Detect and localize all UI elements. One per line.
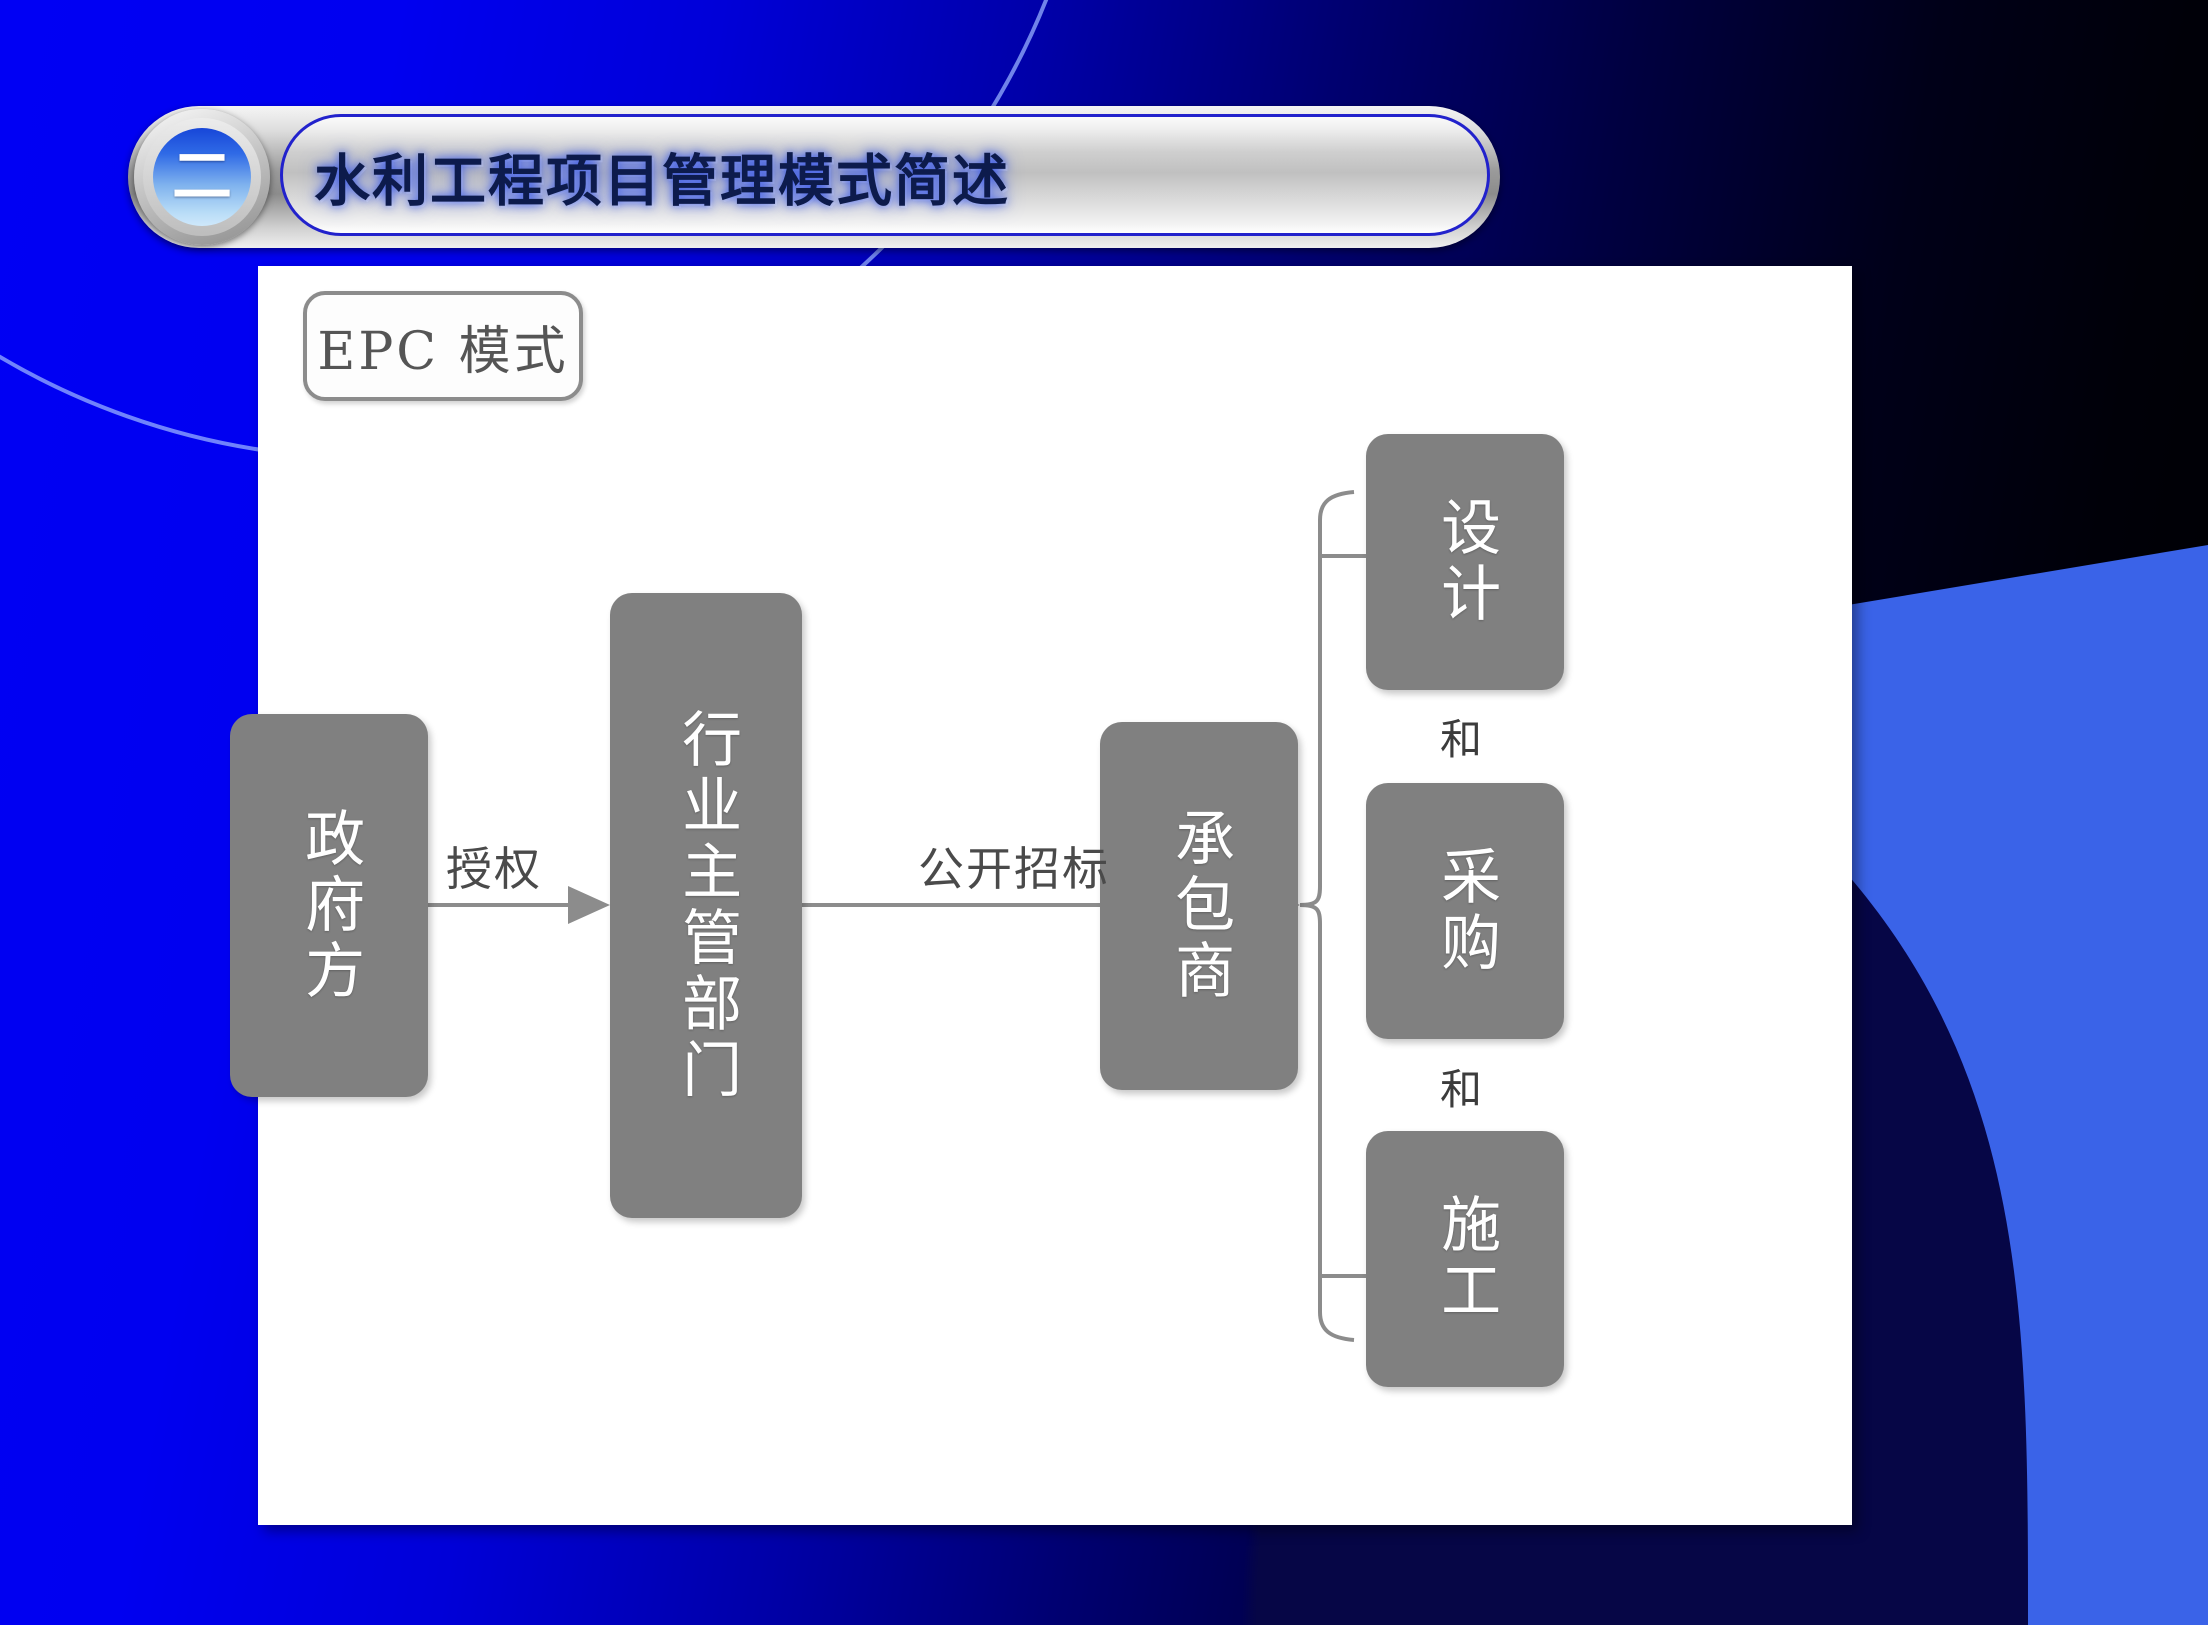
node-authority: 行业主管部门 bbox=[610, 593, 802, 1218]
node-government-label: 政府方 bbox=[292, 807, 365, 1005]
conjunction-procurement-construction: 和 bbox=[1440, 1056, 1482, 1117]
node-design: 设计 bbox=[1366, 434, 1564, 690]
content-panel: EPC 模式 政府方 行业主管部门 承包商 设计 采购 施工 授权 bbox=[258, 266, 1852, 1525]
section-number-badge: 二 bbox=[134, 109, 270, 245]
conjunction-design-procurement: 和 bbox=[1440, 706, 1482, 767]
node-procurement-label: 采购 bbox=[1428, 845, 1501, 977]
edge-label-authorization-text: 授权 bbox=[446, 842, 542, 896]
badge-number-glyph: 二 bbox=[172, 147, 232, 207]
page-title: 水利工程项目管理模式简述 bbox=[314, 137, 1010, 218]
epc-mode-label: EPC 模式 bbox=[317, 309, 568, 384]
node-design-label: 设计 bbox=[1428, 496, 1501, 628]
node-procurement: 采购 bbox=[1366, 783, 1564, 1039]
node-contractor: 承包商 bbox=[1100, 722, 1298, 1090]
node-authority-label: 行业主管部门 bbox=[669, 708, 742, 1104]
node-construction: 施工 bbox=[1366, 1131, 1564, 1387]
node-government: 政府方 bbox=[230, 714, 428, 1097]
conjunction-design-procurement-text: 和 bbox=[1440, 715, 1482, 764]
edge-label-authorization: 授权 bbox=[446, 833, 542, 899]
badge-face: 二 bbox=[153, 128, 251, 226]
epc-mode-chip: EPC 模式 bbox=[303, 291, 583, 401]
node-construction-label: 施工 bbox=[1428, 1193, 1501, 1325]
edge-label-public-tender-text: 公开招标 bbox=[918, 842, 1110, 896]
edge-label-public-tender: 公开招标 bbox=[918, 833, 1110, 899]
title-banner: 二 水利工程项目管理模式简述 bbox=[128, 106, 1500, 248]
conjunction-procurement-construction-text: 和 bbox=[1440, 1065, 1482, 1114]
slide: 二 水利工程项目管理模式简述 EPC 模式 政府方 bbox=[0, 0, 2208, 1625]
node-contractor-label: 承包商 bbox=[1162, 807, 1235, 1005]
